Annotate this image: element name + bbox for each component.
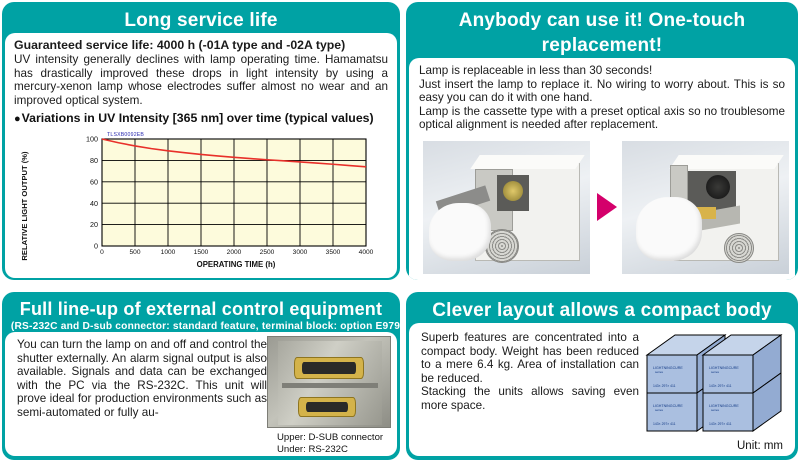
uv-intensity-chart: TLSXB0092EB 0500100015002000250030003500… xyxy=(14,129,388,277)
compact-body-text: Superb features are concentrated into a … xyxy=(421,331,639,413)
panel-content: Lamp is replaceable in less than 30 seco… xyxy=(409,58,795,280)
one-touch-line-3: Lamp is the cassette type with a preset … xyxy=(419,105,785,132)
one-touch-line-1: Lamp is replaceable in less than 30 seco… xyxy=(419,64,785,78)
svg-text:60: 60 xyxy=(90,178,98,187)
svg-text:143× 297× 411: 143× 297× 411 xyxy=(653,384,676,388)
svg-text:series: series xyxy=(655,408,664,412)
photo-rear-connectors xyxy=(267,336,391,428)
panel-header: Clever layout allows a compact body xyxy=(409,295,795,323)
svg-text:80: 80 xyxy=(90,156,98,165)
chart-code-label: TLSXB0092EB xyxy=(107,132,144,138)
panel-long-service-life: Long service life Guaranteed service lif… xyxy=(2,2,400,280)
svg-text:2000: 2000 xyxy=(227,249,242,256)
svg-text:series: series xyxy=(711,408,720,412)
step-arrow-icon xyxy=(597,193,617,221)
panel-header: Full line-up of external control equipme… xyxy=(5,295,397,332)
unit-note: Unit: mm xyxy=(737,440,783,452)
svg-text:143× 297× 411: 143× 297× 411 xyxy=(653,422,676,426)
svg-text:143× 297× 411: 143× 297× 411 xyxy=(709,384,732,388)
panel-one-touch-replacement: Anybody can use it! One-touch replacemen… xyxy=(406,2,798,280)
panel-content: Superb features are concentrated into a … xyxy=(409,323,795,456)
svg-text:100: 100 xyxy=(86,135,98,144)
connector-caption: Upper: D-SUB connector Under: RS-232C xyxy=(277,432,383,455)
stacked-units-diagram: LIGHTNINGCURE series 143× 297× 411 LIGHT… xyxy=(641,325,791,445)
svg-text:1500: 1500 xyxy=(194,249,209,256)
panel-title: Clever layout allows a compact body xyxy=(409,295,795,323)
panel-header: Long service life xyxy=(5,5,397,33)
external-control-text: You can turn the lamp on and off and con… xyxy=(17,338,267,420)
svg-text:series: series xyxy=(711,370,720,374)
chart-svg: 05001000150020002500300035004000 0204060… xyxy=(14,129,394,277)
chart-heading: Variations in UV Intensity [365 nm] over… xyxy=(14,111,388,127)
long-life-paragraph: UV intensity generally declines with lam… xyxy=(14,53,388,107)
feature-sheet: Long service life Guaranteed service lif… xyxy=(0,0,800,462)
svg-text:143× 297× 411: 143× 297× 411 xyxy=(709,422,732,426)
one-touch-line-2: Just insert the lamp to replace it. No w… xyxy=(419,78,785,105)
panel-title: Long service life xyxy=(5,5,397,33)
svg-text:3500: 3500 xyxy=(326,249,341,256)
long-life-text: Guaranteed service life: 4000 h (-01A ty… xyxy=(14,38,388,107)
caption-upper: Upper: D-SUB connector xyxy=(277,432,383,444)
panel-title: Anybody can use it! One-touch replacemen… xyxy=(409,5,795,58)
panel-header: Anybody can use it! One-touch replacemen… xyxy=(409,5,795,58)
svg-text:0: 0 xyxy=(94,242,98,251)
chart-x-axis-label: OPERATING TIME (h) xyxy=(106,260,366,269)
unit-stack-right: LIGHTNINGCURE series 143× 297× 411 LIGHT… xyxy=(703,335,781,431)
panel-subtitle: (RS-232C and D-sub connector: standard f… xyxy=(11,320,391,332)
panel-content: Guaranteed service life: 4000 h (-01A ty… xyxy=(5,33,397,278)
chart-y-axis-label: RELATIVE LIGHT OUTPUT (%) xyxy=(20,147,29,265)
svg-text:4000: 4000 xyxy=(359,249,374,256)
svg-text:3000: 3000 xyxy=(293,249,308,256)
svg-text:20: 20 xyxy=(90,221,98,230)
svg-text:40: 40 xyxy=(90,199,98,208)
panel-external-control-equipment: Full line-up of external control equipme… xyxy=(2,292,400,460)
panel-title: Full line-up of external control equipme… xyxy=(5,295,397,320)
photo-lamp-insert-step1 xyxy=(423,141,590,274)
svg-text:2500: 2500 xyxy=(260,249,275,256)
caption-under: Under: RS-232C xyxy=(277,444,383,456)
svg-text:series: series xyxy=(655,370,664,374)
svg-text:1000: 1000 xyxy=(161,249,176,256)
svg-text:500: 500 xyxy=(129,249,140,256)
svg-text:0: 0 xyxy=(100,249,104,256)
panel-compact-body: Clever layout allows a compact body Supe… xyxy=(406,292,798,460)
guaranteed-life-lead: Guaranteed service life: 4000 h (-01A ty… xyxy=(14,38,388,53)
photo-lamp-insert-step2 xyxy=(622,141,789,274)
panel-content: You can turn the lamp on and off and con… xyxy=(5,332,397,456)
